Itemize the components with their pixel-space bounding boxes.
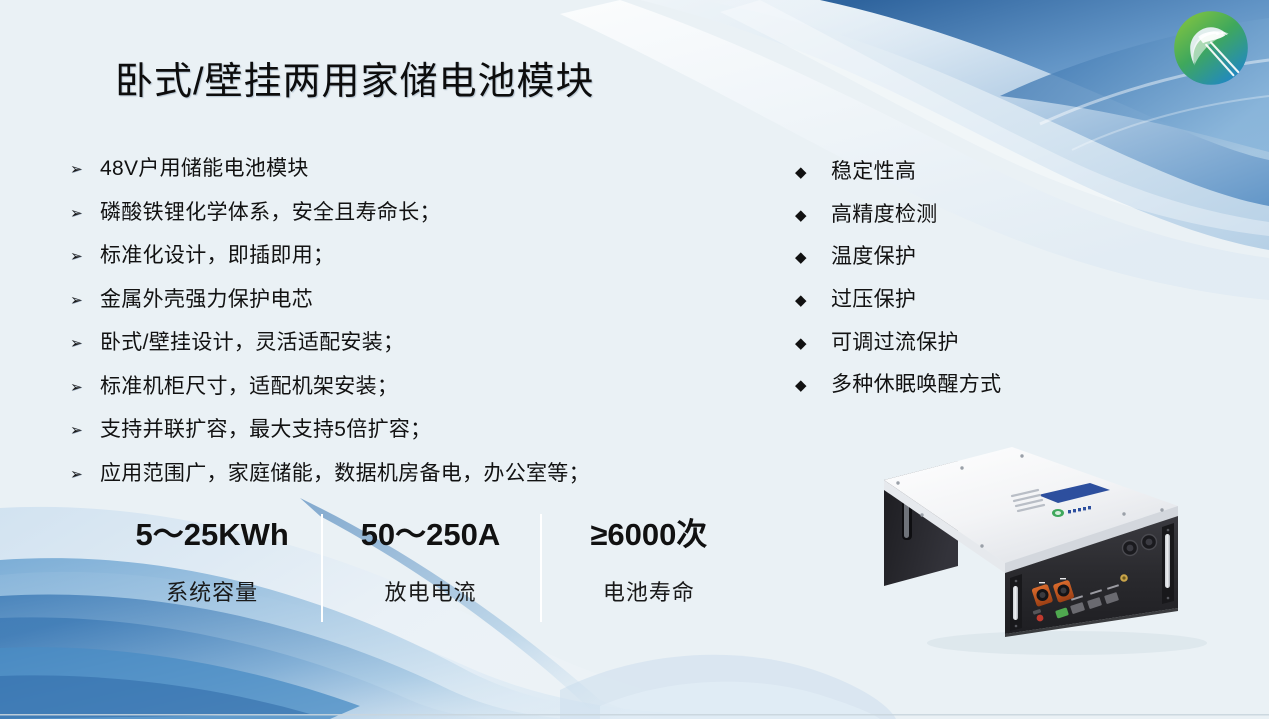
list-item: ➢ 支持并联扩容，最大支持5倍扩容； <box>70 413 730 457</box>
list-item: ◆ 温度保护 <box>795 240 1125 283</box>
arrow-bullet-icon: ➢ <box>70 467 88 482</box>
feature-list-right: ◆ 稳定性高 ◆ 高精度检测 ◆ 温度保护 ◆ 过压保护 ◆ 可调过流保护 ◆ … <box>795 155 1125 411</box>
rack-battery-module-illustration <box>862 438 1262 672</box>
page-title: 卧式/壁挂两用家储电池模块 <box>115 57 595 107</box>
spec-label: 系统容量 <box>103 578 321 608</box>
slide-canvas: 卧式/壁挂两用家储电池模块 ➢ 48V户用储能电池模块 ➢ 磷酸铁锂化学体系，安… <box>0 0 1269 719</box>
list-item-label: 应用范围广，家庭储能，数据机房备电，办公室等； <box>100 457 590 487</box>
diamond-bullet-icon: ◆ <box>795 293 819 308</box>
diamond-bullet-icon: ◆ <box>795 250 819 265</box>
list-item: ➢ 48V户用储能电池模块 <box>70 152 730 196</box>
spec-highlight-strip: 5〜25KWh 系统容量 50〜250A 放电电流 ≥6000次 电池寿命 <box>103 512 758 627</box>
arrow-bullet-icon: ➢ <box>70 423 88 438</box>
spec-value: 50〜250A <box>321 512 539 558</box>
spec-item-current: 50〜250A 放电电流 <box>321 512 539 627</box>
list-item-label: 48V户用储能电池模块 <box>100 152 309 182</box>
arrow-bullet-icon: ➢ <box>70 162 88 177</box>
list-item-label: 磷酸铁锂化学体系，安全且寿命长； <box>100 196 441 226</box>
list-item: ◆ 可调过流保护 <box>795 326 1125 369</box>
spec-item-capacity: 5〜25KWh 系统容量 <box>103 512 321 627</box>
company-logo-icon <box>1171 8 1251 88</box>
arrow-bullet-icon: ➢ <box>70 380 88 395</box>
list-item-label: 高精度检测 <box>831 198 938 228</box>
spec-label: 放电电流 <box>321 578 539 608</box>
list-item-label: 卧式/壁挂设计，灵活适配安装； <box>100 326 404 356</box>
list-item-label: 可调过流保护 <box>831 326 959 356</box>
list-item: ◆ 过压保护 <box>795 283 1125 326</box>
list-item: ◆ 稳定性高 <box>795 155 1125 198</box>
list-item: ➢ 标准机柜尺寸，适配机架安装； <box>70 370 730 414</box>
list-item-label: 温度保护 <box>831 240 916 270</box>
list-item: ➢ 磷酸铁锂化学体系，安全且寿命长； <box>70 196 730 240</box>
spec-label: 电池寿命 <box>540 578 758 608</box>
list-item: ➢ 卧式/壁挂设计，灵活适配安装； <box>70 326 730 370</box>
arrow-bullet-icon: ➢ <box>70 249 88 264</box>
list-item-label: 标准化设计，即插即用； <box>100 239 334 269</box>
arrow-bullet-icon: ➢ <box>70 293 88 308</box>
spec-value: ≥6000次 <box>540 512 758 558</box>
diamond-bullet-icon: ◆ <box>795 336 819 351</box>
company-logo <box>1171 8 1251 88</box>
list-item: ◆ 多种休眠唤醒方式 <box>795 368 1125 411</box>
list-item-label: 稳定性高 <box>831 155 916 185</box>
list-item-label: 标准机柜尺寸，适配机架安装； <box>100 370 398 400</box>
spec-value: 5〜25KWh <box>103 512 321 558</box>
arrow-bullet-icon: ➢ <box>70 206 88 221</box>
feature-list-left: ➢ 48V户用储能电池模块 ➢ 磷酸铁锂化学体系，安全且寿命长； ➢ 标准化设计… <box>70 152 730 500</box>
list-item-label: 金属外壳强力保护电芯 <box>100 283 313 313</box>
list-item: ➢ 标准化设计，即插即用； <box>70 239 730 283</box>
diamond-bullet-icon: ◆ <box>795 208 819 223</box>
list-item: ➢ 金属外壳强力保护电芯 <box>70 283 730 327</box>
diamond-bullet-icon: ◆ <box>795 378 819 393</box>
list-item-label: 支持并联扩容，最大支持5倍扩容； <box>100 413 431 443</box>
arrow-bullet-icon: ➢ <box>70 336 88 351</box>
list-item: ➢ 应用范围广，家庭储能，数据机房备电，办公室等； <box>70 457 730 501</box>
diamond-bullet-icon: ◆ <box>795 165 819 180</box>
product-photo <box>862 438 1262 672</box>
list-item: ◆ 高精度检测 <box>795 198 1125 241</box>
list-item-label: 过压保护 <box>831 283 916 313</box>
list-item-label: 多种休眠唤醒方式 <box>831 368 1001 398</box>
spec-item-cycle-life: ≥6000次 电池寿命 <box>540 512 758 627</box>
